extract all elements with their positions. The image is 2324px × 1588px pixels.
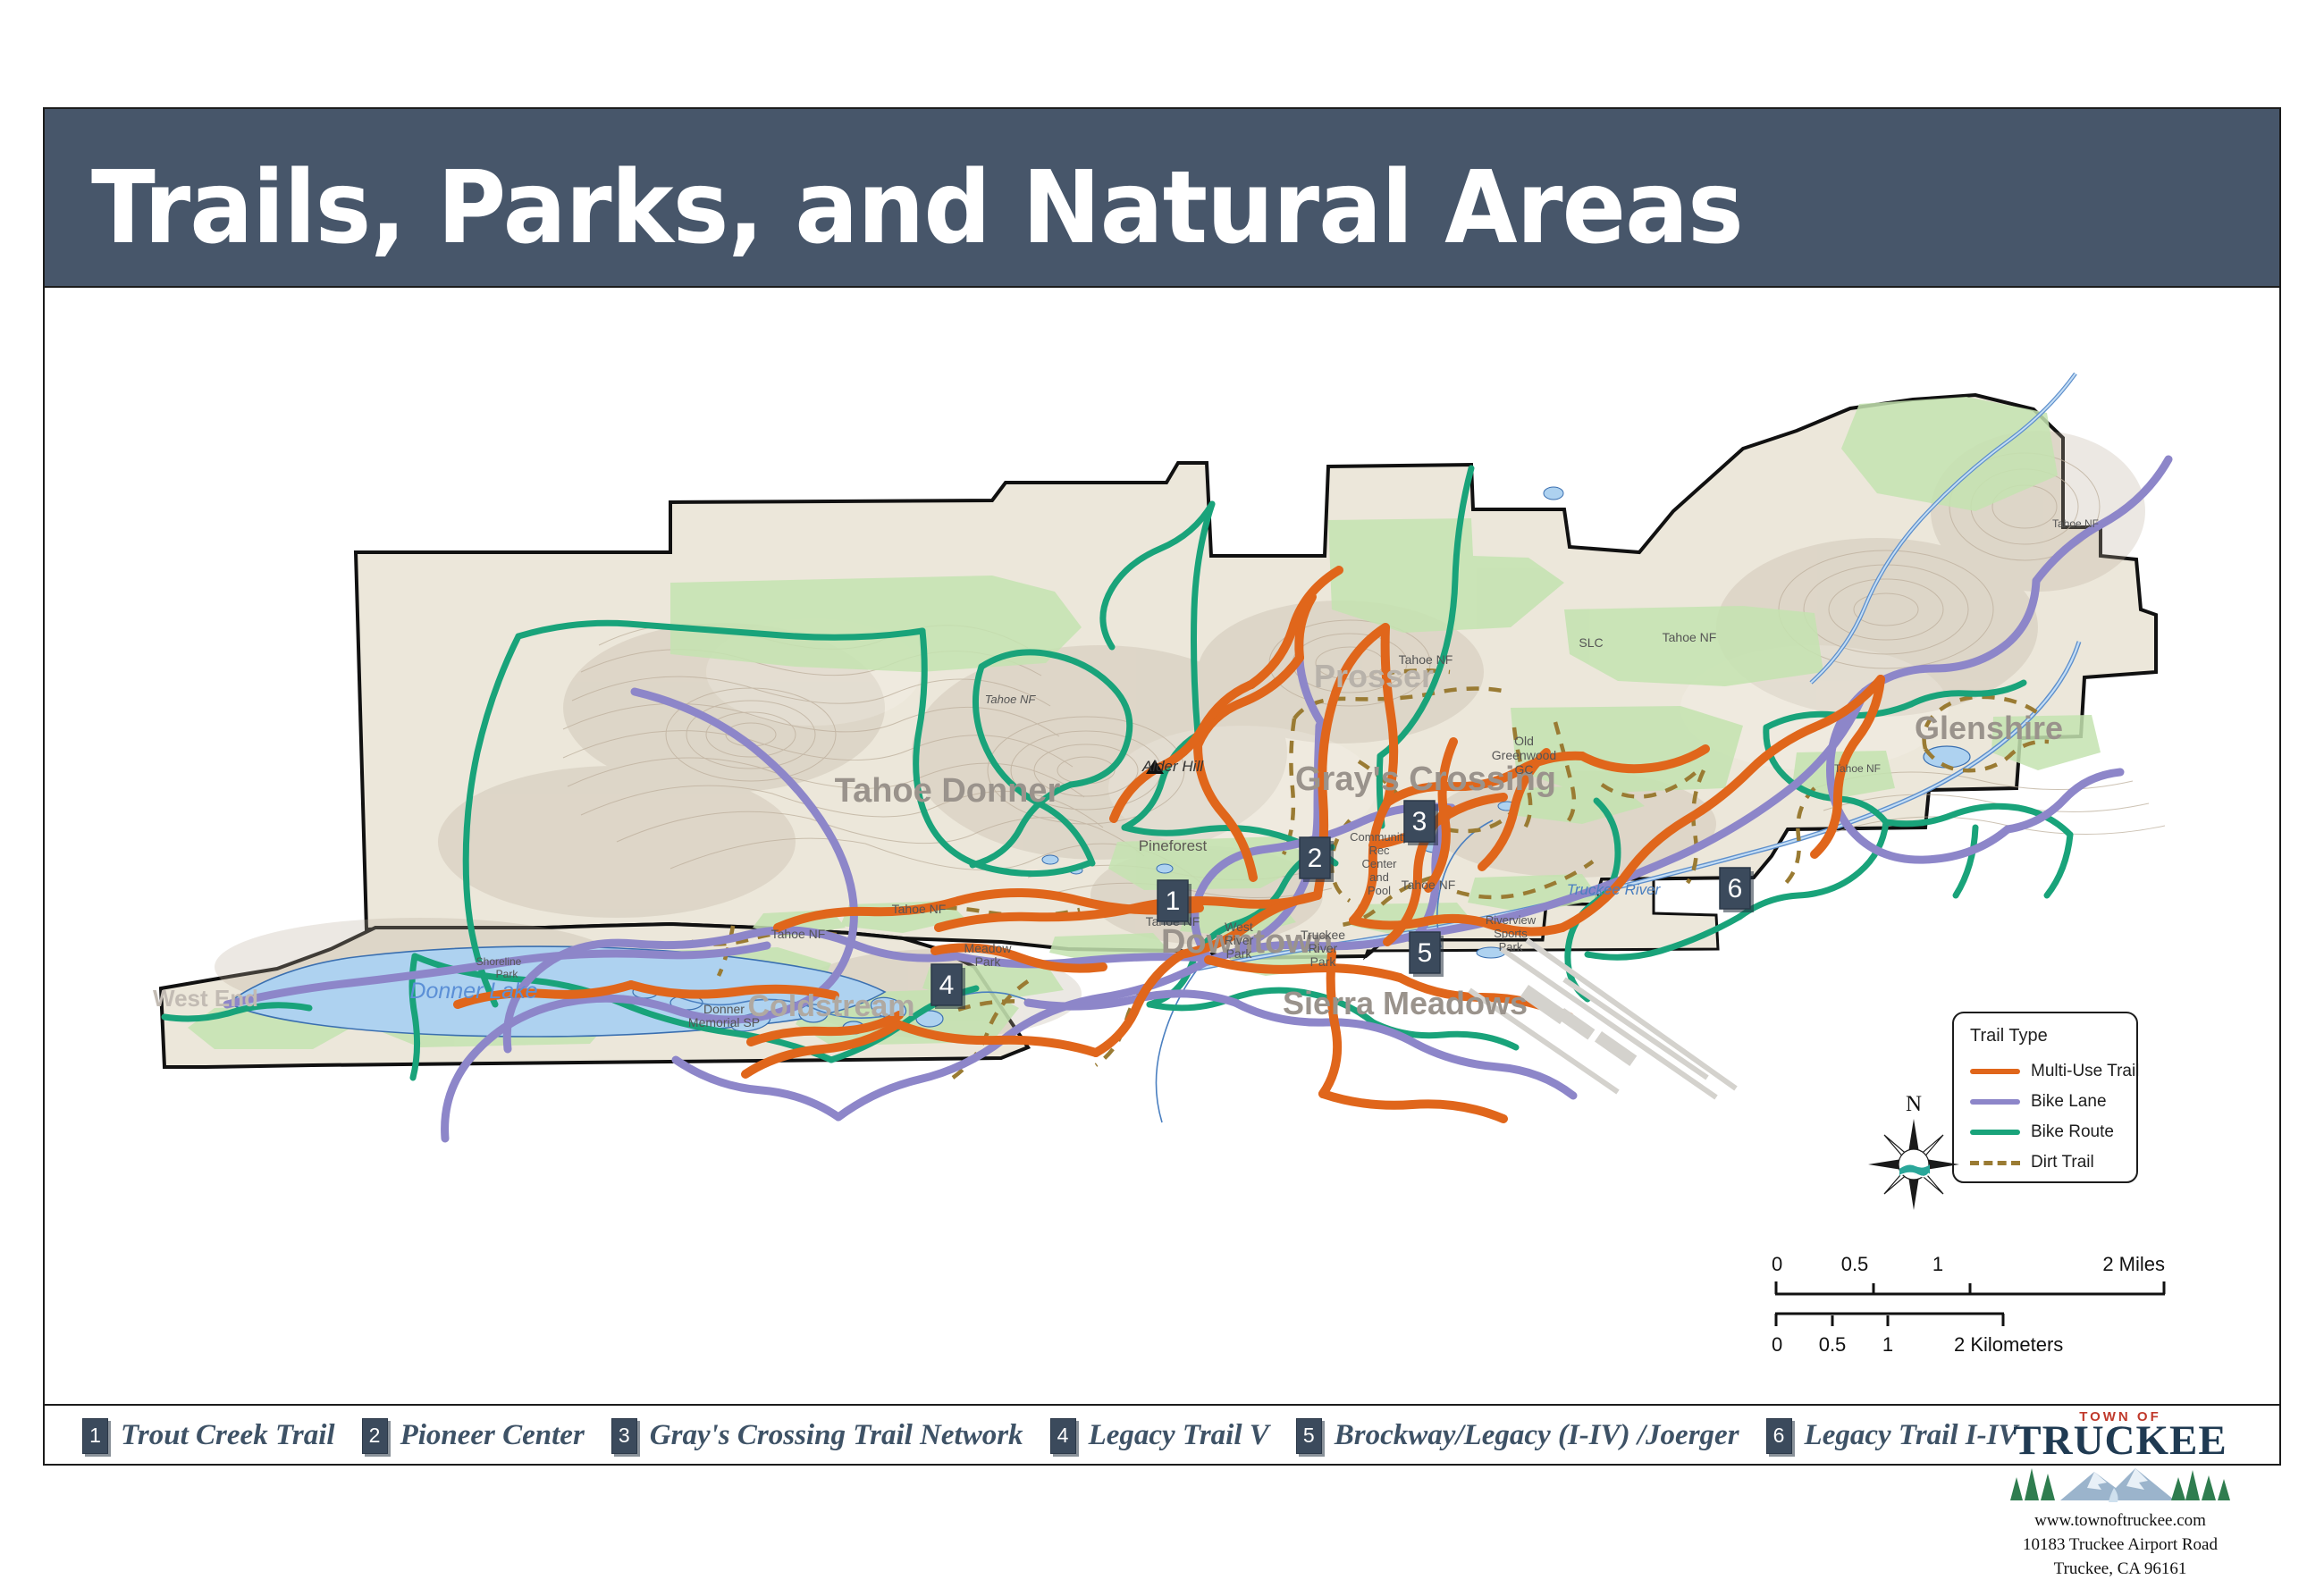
town-logo-block: TOWN OF TRUCKEE www.townoftruckee.com 10… (1986, 1409, 2254, 1588)
bottom-legend-badge: 2 (362, 1418, 388, 1454)
bottom-legend-label: Legacy Trail V (1089, 1419, 1269, 1452)
scale-km-tick-1: 1 (1882, 1333, 1893, 1357)
legend-row-bike-lane: Bike Lane (1970, 1087, 2136, 1117)
map-number-badge[interactable]: 3 (1404, 801, 1438, 845)
scale-miles-tick-0: 0 (1772, 1253, 1782, 1276)
legend-row-dirt-trail: Dirt Trail (1970, 1147, 2136, 1178)
bottom-legend-label: Brockway/Legacy (I-IV) /Joerger (1335, 1419, 1739, 1452)
scale-km-tick-half: 0.5 (1819, 1333, 1847, 1357)
bottom-legend-label: Pioneer Center (400, 1419, 585, 1452)
legend-swatch-multi-use (1970, 1069, 2020, 1074)
map-number-badge-text: 6 (1728, 874, 1743, 903)
legend-swatch-dirt-trail (1970, 1161, 2020, 1165)
map-place-label: Donner Lake (409, 979, 537, 1004)
compass-north-label: N (1865, 1092, 1963, 1117)
map-place-label: Community (1350, 830, 1409, 844)
map-place-label: Pineforest (1139, 837, 1208, 854)
legend-label-multi-use: Multi-Use Trail (2031, 1062, 2139, 1081)
map-place-label: Alder Hill (1141, 758, 1204, 775)
map-place-label: Tahoe NF (1663, 630, 1717, 644)
bottom-legend-item[interactable]: 4Legacy Trail V (1050, 1418, 1269, 1454)
map-place-label: Park (496, 968, 519, 980)
map-area-label: Sierra Meadows (1283, 985, 1528, 1021)
map-number-badge[interactable]: 1 (1158, 880, 1191, 925)
page-title: Trails, Parks, and Natural Areas (91, 150, 1743, 266)
map-place-label: Pool (1368, 884, 1391, 897)
map-area-label: Coldstream (747, 989, 914, 1023)
map-place-label: Park (975, 954, 1002, 969)
logo-mountain-scene-icon (2008, 1461, 2232, 1502)
map-place-label: Rec (1368, 844, 1390, 857)
map-place-label: Park (1499, 940, 1523, 954)
map-number-badge-text: 4 (939, 970, 955, 1000)
bottom-legend-item[interactable]: 6Legacy Trail I-IV (1766, 1418, 2018, 1454)
scale-miles-tick-1: 1 (1932, 1253, 1943, 1276)
scale-miles-tick-half: 0.5 (1841, 1253, 1869, 1276)
map-place-label: Tahoe NF (985, 693, 1037, 706)
bottom-legend-item[interactable]: 2Pioneer Center (362, 1418, 585, 1454)
legend-label-dirt-trail: Dirt Trail (2031, 1153, 2094, 1172)
scale-bar-miles (1773, 1280, 2167, 1299)
map-area-label: West End (153, 985, 258, 1012)
title-bar: Trails, Parks, and Natural Areas (45, 109, 2279, 288)
trail-type-legend: Trail Type Multi-Use Trail Bike Lane Bik… (1952, 1012, 2138, 1183)
map-place-label: Tahoe NF (1399, 652, 1453, 667)
map-number-badge-text: 2 (1308, 844, 1323, 873)
logo-website: www.townoftruckee.com (1986, 1510, 2254, 1531)
map-place-label: Memorial SP (688, 1015, 760, 1029)
map-place-label: Tahoe NF (2052, 517, 2099, 530)
bottom-legend-badge: 5 (1296, 1418, 1322, 1454)
legend-label-bike-lane: Bike Lane (2031, 1092, 2107, 1112)
map-area-label: Glenshire (1915, 710, 2063, 746)
map-place-label: Sports (1494, 927, 1528, 940)
map-place-label: Truckee River (1567, 881, 1662, 898)
map-graphic: Tahoe DonnerProsserGray's CrossingGlensh… (45, 288, 2279, 1400)
bottom-legend-badge: 1 (82, 1418, 108, 1454)
scale-bar-kilometers (1773, 1310, 2033, 1330)
bottom-legend-label: Gray's Crossing Trail Network (650, 1419, 1023, 1452)
map-canvas[interactable]: Tahoe DonnerProsserGray's CrossingGlensh… (45, 288, 2279, 1400)
bottom-legend-item[interactable]: 1Trout Creek Trail (82, 1418, 335, 1454)
scale-km-tick-0: 0 (1772, 1333, 1782, 1357)
map-place-label: GC (1515, 762, 1534, 777)
bottom-legend-badge: 3 (611, 1418, 637, 1454)
map-number-badge-text: 3 (1412, 807, 1427, 836)
map-number-badge[interactable]: 5 (1410, 932, 1444, 977)
compass-rose: N (1865, 1092, 1963, 1210)
legend-swatch-bike-lane (1970, 1099, 2020, 1105)
map-place-label: Center (1361, 857, 1397, 870)
map-place-label: West (1225, 920, 1253, 934)
map-number-badge[interactable]: 4 (931, 964, 965, 1009)
bottom-legend-item[interactable]: 5Brockway/Legacy (I-IV) /Joerger (1296, 1418, 1739, 1454)
map-number-badge-text: 5 (1418, 938, 1433, 968)
map-number-badge-text: 1 (1166, 886, 1181, 916)
map-place-label: Meadow (964, 941, 1013, 955)
map-place-label: Old (1514, 734, 1534, 748)
bottom-legend-badge: 6 (1766, 1418, 1792, 1454)
logo-address-line2: Truckee, CA 96161 (1986, 1559, 2254, 1579)
legend-label-bike-route: Bike Route (2031, 1122, 2114, 1142)
bottom-legend-label: Trout Creek Trail (121, 1419, 335, 1452)
map-place-label: Greenwood (1492, 748, 1556, 762)
airport-buildings (1520, 985, 1637, 1066)
map-place-label: Tahoe NF (771, 927, 826, 941)
map-place-label: Park (1310, 954, 1337, 969)
numbered-trail-legend: 1Trout Creek Trail2Pioneer Center3Gray's… (45, 1404, 2279, 1466)
map-area-label: Tahoe Donner (835, 772, 1061, 810)
scale-bars: 0 0.5 1 2 Miles 0 0.5 1 2 Kilometers (1772, 1253, 2236, 1369)
map-place-label: Tahoe NF (1402, 878, 1456, 892)
legend-row-multi-use: Multi-Use Trail (1970, 1056, 2136, 1087)
legend-swatch-bike-route (1970, 1130, 2020, 1135)
map-place-label: River (1309, 941, 1338, 955)
map-place-label: Tahoe NF (1834, 762, 1881, 775)
map-place-label: Tahoe NF (892, 902, 947, 916)
map-place-label: SLC (1579, 635, 1603, 650)
map-number-badge[interactable]: 2 (1300, 837, 1334, 882)
logo-truckee-text: TRUCKEE (1986, 1421, 2254, 1461)
scale-miles-unit: 2 Miles (2102, 1253, 2165, 1276)
compass-icon (1865, 1115, 1963, 1214)
map-place-label: Park (1226, 946, 1253, 961)
logo-address-line1: 10183 Truckee Airport Road (1986, 1534, 2254, 1555)
map-place-label: and (1369, 870, 1389, 884)
map-number-badge[interactable]: 6 (1720, 868, 1754, 912)
scale-km-unit: 2 Kilometers (1954, 1333, 2063, 1357)
legend-row-bike-route: Bike Route (1970, 1117, 2136, 1147)
legend-title: Trail Type (1970, 1026, 2136, 1046)
map-place-label: River (1225, 933, 1254, 947)
bottom-legend-badge: 4 (1050, 1418, 1076, 1454)
map-place-label: Riverview (1486, 913, 1537, 927)
bottom-legend-item[interactable]: 3Gray's Crossing Trail Network (611, 1418, 1023, 1454)
map-place-label: Shoreline (476, 955, 522, 968)
map-place-label: Truckee (1301, 928, 1345, 942)
map-poster: Trails, Parks, and Natural Areas (43, 107, 2281, 1466)
map-place-label: Donner (703, 1002, 745, 1016)
